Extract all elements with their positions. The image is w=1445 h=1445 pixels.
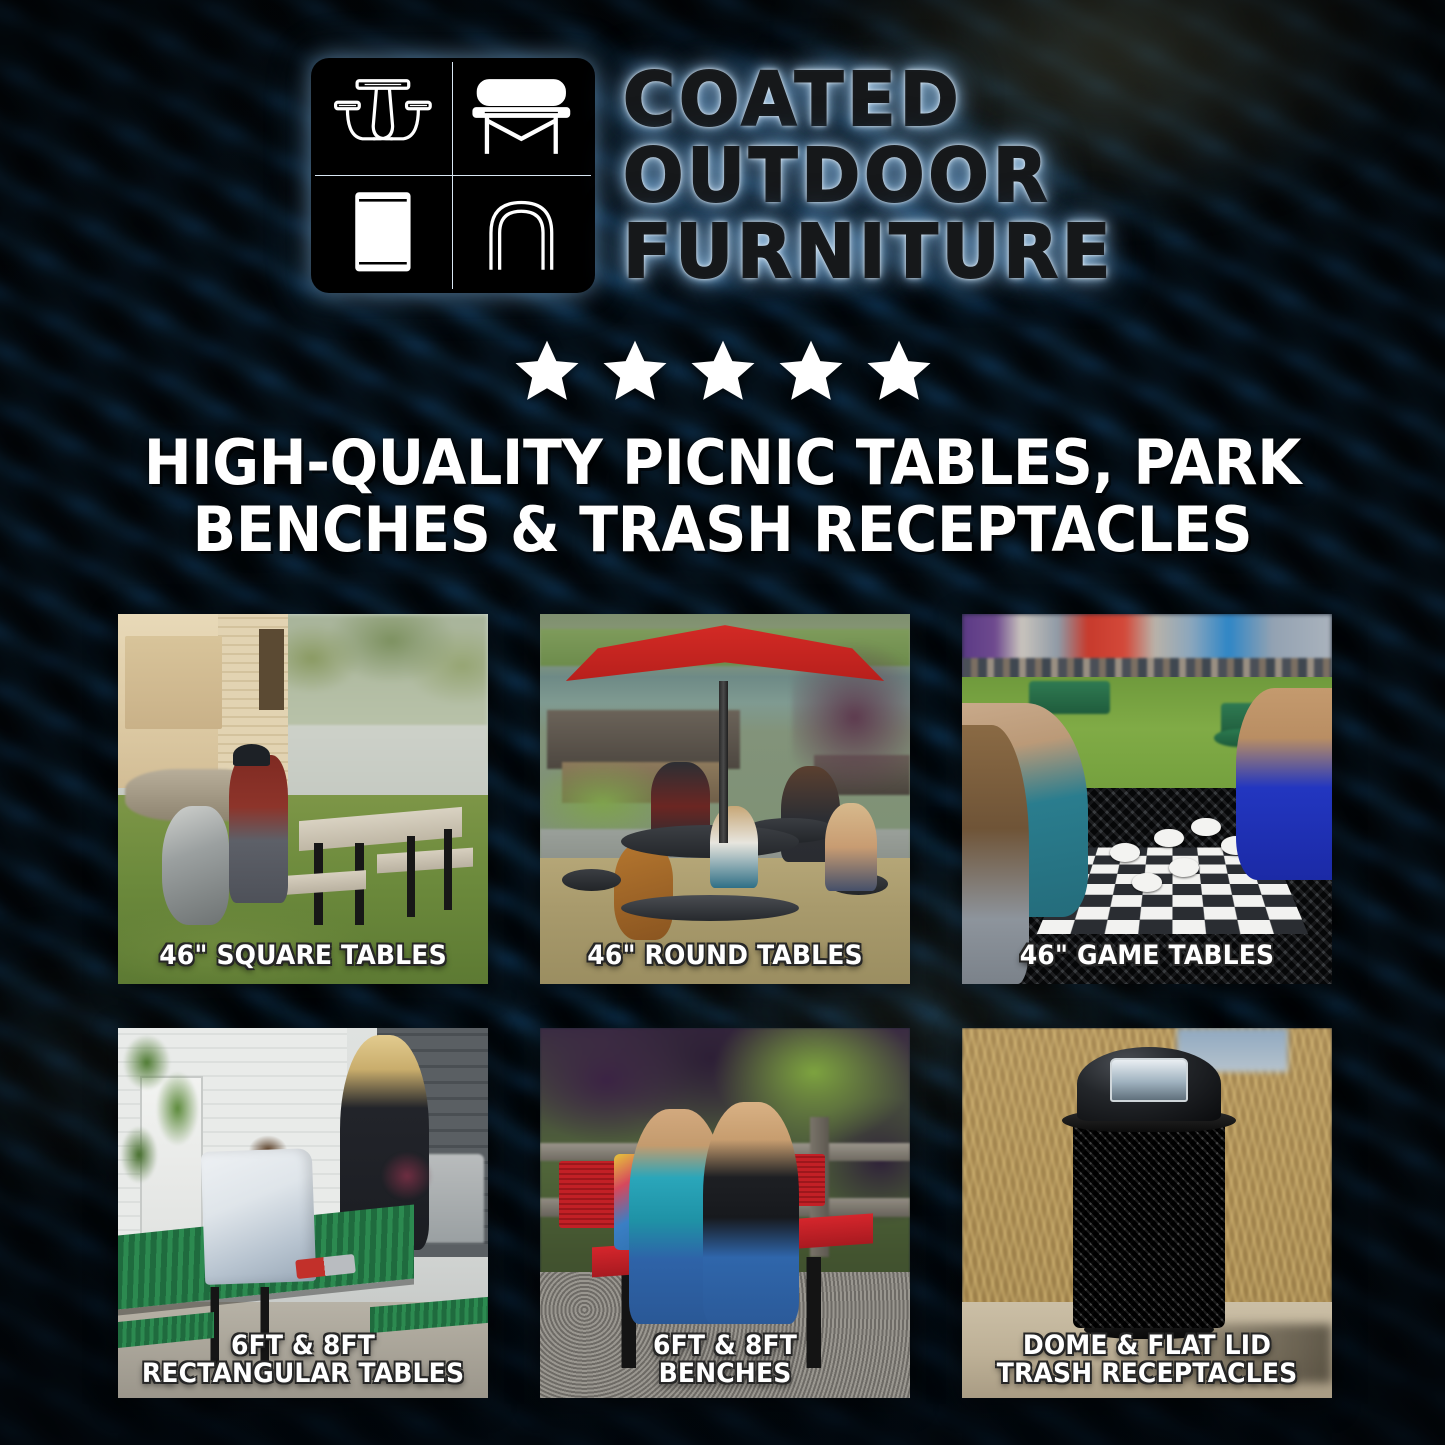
caption-line-2: TRASH RECEPTACLES	[982, 1360, 1311, 1388]
product-tile-benches[interactable]: 6FT & 8FT BENCHES	[540, 1028, 910, 1398]
product-caption: 46" ROUND TABLES	[553, 942, 897, 970]
caption-line-2: BENCHES	[560, 1360, 889, 1388]
product-tile-square-tables[interactable]: 46" SQUARE TABLES	[118, 614, 488, 984]
caption-line-1: 46" GAME TABLES	[982, 942, 1311, 970]
caption-line-1: 46" SQUARE TABLES	[138, 942, 467, 970]
star-icon	[510, 336, 584, 406]
product-caption: 46" SQUARE TABLES	[131, 942, 475, 970]
product-caption: DOME & FLAT LID TRASH RECEPTACLES	[975, 1332, 1319, 1388]
logo-line-3: FURNITURE	[623, 215, 1114, 289]
headline-line-2: BENCHES & TRASH RECEPTACLES	[58, 497, 1387, 564]
star-icon	[862, 336, 936, 406]
product-photo-game-tables	[962, 614, 1332, 984]
trash-receptacle-icon	[315, 176, 453, 290]
promotional-poster: COATED OUTDOOR FURNITURE HIGH-QUALITY PI…	[0, 0, 1445, 1445]
star-icon	[598, 336, 672, 406]
brand-logo: COATED OUTDOOR FURNITURE	[0, 58, 1445, 293]
caption-line-1: 6FT & 8FT	[138, 1332, 467, 1360]
product-caption: 6FT & 8FT BENCHES	[553, 1332, 897, 1388]
logo-line-2: OUTDOOR	[623, 139, 1114, 213]
caption-line-1: 46" ROUND TABLES	[560, 942, 889, 970]
page-headline: HIGH-QUALITY PICNIC TABLES, PARK BENCHES…	[58, 430, 1387, 564]
star-icon	[686, 336, 760, 406]
star-rating	[0, 336, 1445, 406]
logo-icon-grid	[311, 58, 595, 293]
logo-line-1: COATED	[623, 63, 1114, 137]
product-photo-round-tables	[540, 614, 910, 984]
product-photo-square-tables	[118, 614, 488, 984]
product-caption: 6FT & 8FT RECTANGULAR TABLES	[131, 1332, 475, 1388]
product-grid: 46" SQUARE TABLES	[118, 614, 1330, 1398]
headline-line-1: HIGH-QUALITY PICNIC TABLES, PARK	[58, 430, 1387, 497]
bench-table-icon	[453, 62, 591, 176]
star-icon	[774, 336, 848, 406]
caption-line-1: 6FT & 8FT	[560, 1332, 889, 1360]
caption-line-2: RECTANGULAR TABLES	[138, 1360, 467, 1388]
product-tile-trash-receptacles[interactable]: DOME & FLAT LID TRASH RECEPTACLES	[962, 1028, 1332, 1398]
product-tile-game-tables[interactable]: 46" GAME TABLES	[962, 614, 1332, 984]
product-tile-rectangular-tables[interactable]: 6FT & 8FT RECTANGULAR TABLES	[118, 1028, 488, 1398]
logo-wordmark: COATED OUTDOOR FURNITURE	[623, 63, 1135, 289]
product-caption: 46" GAME TABLES	[975, 942, 1319, 970]
bike-rack-icon	[453, 176, 591, 290]
caption-line-1: DOME & FLAT LID	[982, 1332, 1311, 1360]
picnic-table-icon	[315, 62, 453, 176]
product-tile-round-tables[interactable]: 46" ROUND TABLES	[540, 614, 910, 984]
